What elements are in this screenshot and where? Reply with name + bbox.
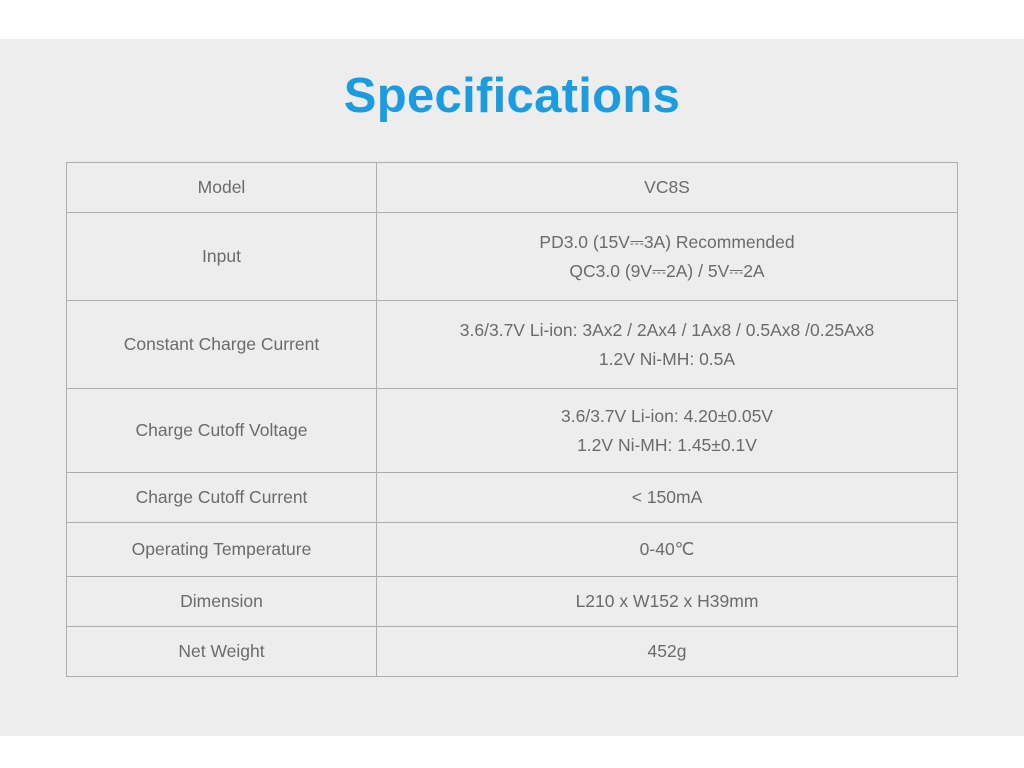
specifications-table: Model VC8S Input PD3.0 (15V⎓3A) Recommen… (66, 162, 958, 677)
spec-value-operating-temperature: 0-40℃ (377, 523, 958, 577)
spec-value-model: VC8S (377, 163, 958, 213)
spec-value-net-weight: 452g (377, 627, 958, 677)
table-row: Dimension L210 x W152 x H39mm (67, 577, 958, 627)
table-row: Charge Cutoff Voltage 3.6/3.7V Li-ion: 4… (67, 389, 958, 473)
value-line: PD3.0 (15V⎓3A) Recommended (387, 228, 947, 256)
spec-label-charge-cutoff-current: Charge Cutoff Current (67, 473, 377, 523)
spec-value-dimension: L210 x W152 x H39mm (377, 577, 958, 627)
value-line: QC3.0 (9V⎓2A) / 5V⎓2A (387, 257, 947, 285)
spec-value-charge-cutoff-voltage: 3.6/3.7V Li-ion: 4.20±0.05V 1.2V Ni-MH: … (377, 389, 958, 473)
spec-value-input: PD3.0 (15V⎓3A) Recommended QC3.0 (9V⎓2A)… (377, 213, 958, 301)
table-row: Charge Cutoff Current < 150mA (67, 473, 958, 523)
table-row: Net Weight 452g (67, 627, 958, 677)
specifications-slide: Specifications Model VC8S Input PD3.0 (1… (0, 0, 1024, 768)
spec-label-model: Model (67, 163, 377, 213)
value-line: 0-40℃ (387, 535, 947, 563)
value-line: 1.2V Ni-MH: 0.5A (387, 345, 947, 373)
specifications-table-container: Model VC8S Input PD3.0 (15V⎓3A) Recommen… (66, 162, 957, 677)
specifications-table-body: Model VC8S Input PD3.0 (15V⎓3A) Recommen… (67, 163, 958, 677)
page-title: Specifications (0, 72, 1024, 121)
value-line: < 150mA (387, 483, 947, 511)
value-line: L210 x W152 x H39mm (387, 587, 947, 615)
value-line: 452g (387, 637, 947, 665)
value-line: 3.6/3.7V Li-ion: 3Ax2 / 2Ax4 / 1Ax8 / 0.… (387, 316, 947, 344)
table-row: Operating Temperature 0-40℃ (67, 523, 958, 577)
table-row: Input PD3.0 (15V⎓3A) Recommended QC3.0 (… (67, 213, 958, 301)
spec-label-constant-charge-current: Constant Charge Current (67, 301, 377, 389)
value-line: 1.2V Ni-MH: 1.45±0.1V (387, 431, 947, 459)
spec-value-charge-cutoff-current: < 150mA (377, 473, 958, 523)
value-line: VC8S (387, 173, 947, 201)
spec-label-charge-cutoff-voltage: Charge Cutoff Voltage (67, 389, 377, 473)
spec-label-input: Input (67, 213, 377, 301)
spec-label-operating-temperature: Operating Temperature (67, 523, 377, 577)
spec-label-dimension: Dimension (67, 577, 377, 627)
spec-label-net-weight: Net Weight (67, 627, 377, 677)
table-row: Constant Charge Current 3.6/3.7V Li-ion:… (67, 301, 958, 389)
value-line: 3.6/3.7V Li-ion: 4.20±0.05V (387, 402, 947, 430)
table-row: Model VC8S (67, 163, 958, 213)
spec-value-constant-charge-current: 3.6/3.7V Li-ion: 3Ax2 / 2Ax4 / 1Ax8 / 0.… (377, 301, 958, 389)
